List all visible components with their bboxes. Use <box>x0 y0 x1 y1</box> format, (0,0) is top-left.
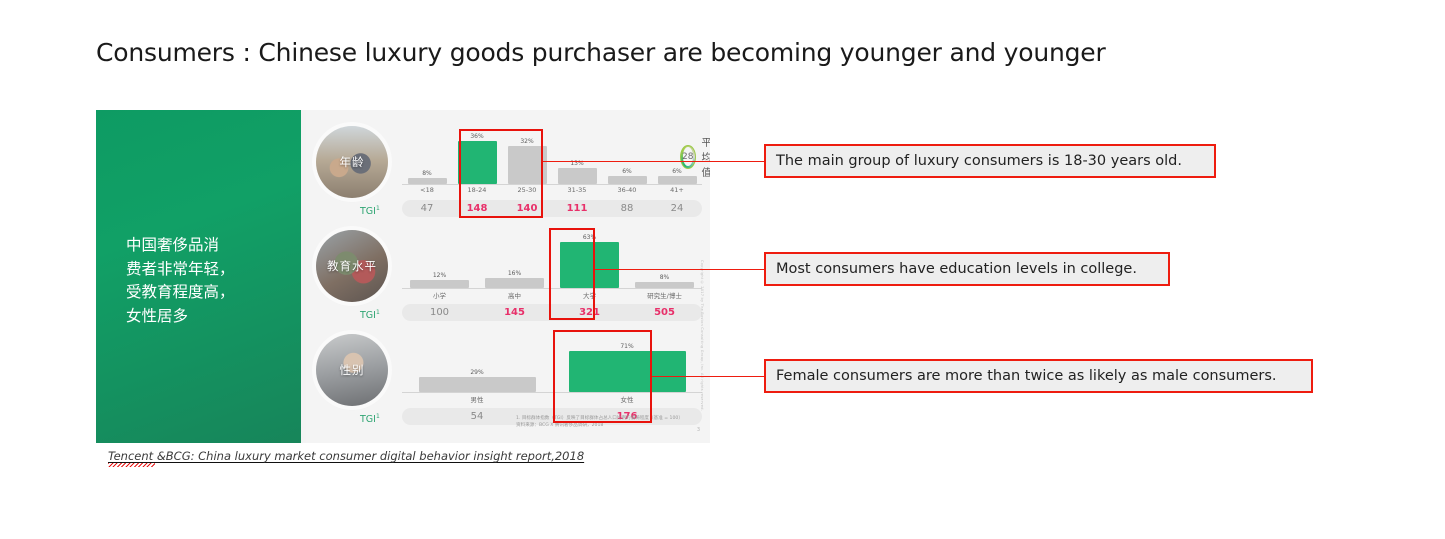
bar <box>608 176 647 184</box>
average-value: 28 <box>682 152 693 162</box>
callout-gender-text: Female consumers are more than twice as … <box>776 368 1277 384</box>
category-label: <18 <box>402 186 452 194</box>
bar <box>485 278 544 288</box>
demographic-block-education: 教育水平 12% 16% 63% 8% 小学 高中 大学 <box>306 222 710 322</box>
callout-age-text: The main group of luxury consumers is 18… <box>776 153 1182 169</box>
tgi-row-age: 47 148 140 111 88 24 <box>402 200 702 217</box>
category-label: 31-35 <box>552 186 602 194</box>
tgi-text: TGI <box>360 414 376 425</box>
source-caption: Tencent &BCG: China luxury market consum… <box>108 449 584 463</box>
slide-page-number: 3 <box>697 427 700 433</box>
bar-value-label: 29% <box>470 369 483 376</box>
bar-value-label: 8% <box>422 170 432 177</box>
callout-gender[interactable]: Female consumers are more than twice as … <box>764 359 1313 393</box>
axis-line <box>402 184 702 185</box>
bar-value-label: 16% <box>508 270 521 277</box>
bar-value-label: 12% <box>433 272 446 279</box>
bar-col: 29% <box>402 330 552 392</box>
bars-gender: 29% 71% <box>402 330 702 392</box>
average-badge: 28 平均值 <box>680 134 710 179</box>
chart-age: 8% 36% 32% 13% 6% 6% <18 18-24 25-30 <box>402 122 702 218</box>
average-ring-icon: 28 <box>680 145 696 169</box>
axis-line <box>402 392 702 393</box>
bar-value-label: 6% <box>622 168 632 175</box>
connector-line-gender <box>652 376 764 377</box>
tgi-value: 100 <box>402 307 477 318</box>
bar-value-label: 8% <box>660 274 670 281</box>
category-label: 41+ <box>652 186 702 194</box>
category-labels-gender: 男性 女性 <box>402 394 702 404</box>
green-summary-panel: 中国奢侈品消 费者非常年轻， 受教育程度高， 女性居多 <box>96 110 301 443</box>
category-label: 小学 <box>402 290 477 300</box>
tgi-value: 145 <box>477 307 552 318</box>
tgi-text: TGI <box>360 206 376 217</box>
highlight-box-education <box>549 228 595 320</box>
avatar-label-age: 年龄 <box>316 154 388 170</box>
spellcheck-underline <box>108 463 155 467</box>
avatar-label-gender: 性别 <box>316 362 388 378</box>
tgi-label-gender: TGI1 <box>360 408 380 425</box>
category-label: 男性 <box>402 394 552 404</box>
tgi-value: 24 <box>652 203 702 214</box>
slide-copyright: Copyright © 2017 by The Boston Consultin… <box>700 260 704 411</box>
callout-age[interactable]: The main group of luxury consumers is 18… <box>764 144 1216 178</box>
category-label: 36-40 <box>602 186 652 194</box>
page-title: Consumers : Chinese luxury goods purchas… <box>96 38 1106 67</box>
tgi-footnote-marker: 1 <box>376 205 380 212</box>
avatar-education: 教育水平 <box>316 230 388 302</box>
bar-col: 8% <box>627 226 702 288</box>
highlight-box-age <box>459 129 543 218</box>
callout-education-text: Most consumers have education levels in … <box>776 261 1137 277</box>
tgi-value: 505 <box>627 307 702 318</box>
callout-education[interactable]: Most consumers have education levels in … <box>764 252 1170 286</box>
bar <box>419 377 536 392</box>
bar-col: 8% <box>402 122 452 184</box>
bar-col: 12% <box>402 226 477 288</box>
tgi-text: TGI <box>360 310 376 321</box>
average-label: 平均值 <box>702 134 710 179</box>
highlight-box-gender <box>553 330 652 423</box>
tgi-label-education: TGI1 <box>360 304 380 321</box>
tgi-value: 111 <box>552 203 602 214</box>
green-panel-text: 中国奢侈品消 费者非常年轻， 受教育程度高， 女性居多 <box>126 234 235 328</box>
tgi-label-age: TGI1 <box>360 200 380 217</box>
avatar-gender: 性别 <box>316 334 388 406</box>
bar <box>410 280 469 288</box>
tgi-value: 47 <box>402 203 452 214</box>
tgi-footnote-marker: 1 <box>376 309 380 316</box>
bar-col: 6% <box>602 122 652 184</box>
bars-age: 8% 36% 32% 13% 6% 6% <box>402 122 702 184</box>
category-labels-age: <18 18-24 25-30 31-35 36-40 41+ <box>402 186 702 194</box>
avatar-label-education: 教育水平 <box>316 258 388 274</box>
category-label: 研究生/博士 <box>627 290 702 300</box>
bar-col: 13% <box>552 122 602 184</box>
avatar-age: 年龄 <box>316 126 388 198</box>
category-label: 高中 <box>477 290 552 300</box>
connector-line-age <box>543 161 764 162</box>
chart-gender: 29% 71% 男性 女性 TGI1 54 176 <box>402 330 702 426</box>
bar-col: 16% <box>477 226 552 288</box>
bar <box>558 168 597 184</box>
source-caption-text: Tencent &BCG: China luxury market consum… <box>108 449 584 463</box>
slide-page: Consumers : Chinese luxury goods purchas… <box>0 0 1445 539</box>
tgi-footnote-marker: 1 <box>376 413 380 420</box>
connector-line-education <box>595 269 764 270</box>
tgi-value: 88 <box>602 203 652 214</box>
